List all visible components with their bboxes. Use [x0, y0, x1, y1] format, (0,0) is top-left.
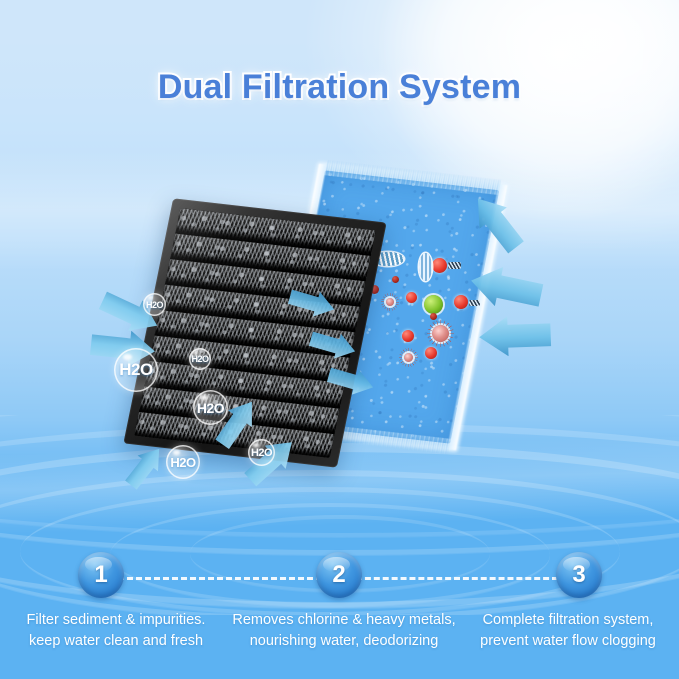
contaminant-rod — [419, 253, 432, 281]
contaminant-red — [425, 347, 437, 359]
step-number-2: 2 — [332, 561, 345, 589]
contaminant-spiky — [386, 298, 394, 306]
step-number-1: 1 — [94, 561, 107, 589]
contaminant-red — [432, 258, 447, 273]
contaminant-red — [402, 330, 414, 342]
step-description-2: Removes chlorine & heavy metals, nourish… — [228, 610, 460, 652]
h2o-bubble: H2O — [166, 445, 200, 479]
infographic-canvas: Dual Filtration System — [0, 0, 679, 679]
step-badge-2: 2 — [316, 552, 362, 598]
h2o-bubble: H2O — [248, 439, 275, 466]
h2o-bubble: H2O — [114, 348, 158, 392]
step-badge-1: 1 — [78, 552, 124, 598]
product-illustration: H2OH2OH2OH2OH2OH2O — [0, 0, 679, 560]
h2o-bubble: H2O — [193, 390, 228, 425]
step-connector-dashed-line — [356, 577, 558, 580]
contaminant-dark — [430, 313, 437, 320]
h2o-bubble: H2O — [189, 348, 211, 370]
step-number-3: 3 — [572, 561, 585, 589]
contaminant-spiky — [432, 325, 449, 342]
contaminant-spiky — [404, 353, 413, 362]
contaminant-red — [406, 292, 417, 303]
step-description-3: Complete filtration system, prevent wate… — [458, 610, 678, 652]
h2o-bubble: H2O — [143, 293, 166, 316]
steps-footer: 1 2 3 Filter sediment & impurities. keep… — [0, 552, 679, 679]
step-badge-3: 3 — [556, 552, 602, 598]
contaminant-green — [424, 295, 443, 314]
step-connector-dashed-line — [118, 577, 322, 580]
contaminant-dark — [392, 276, 399, 283]
step-description-1: Filter sediment & impurities. keep water… — [2, 610, 230, 652]
contaminant-bar — [448, 262, 461, 269]
inflow-arrow-bottom — [475, 315, 554, 358]
